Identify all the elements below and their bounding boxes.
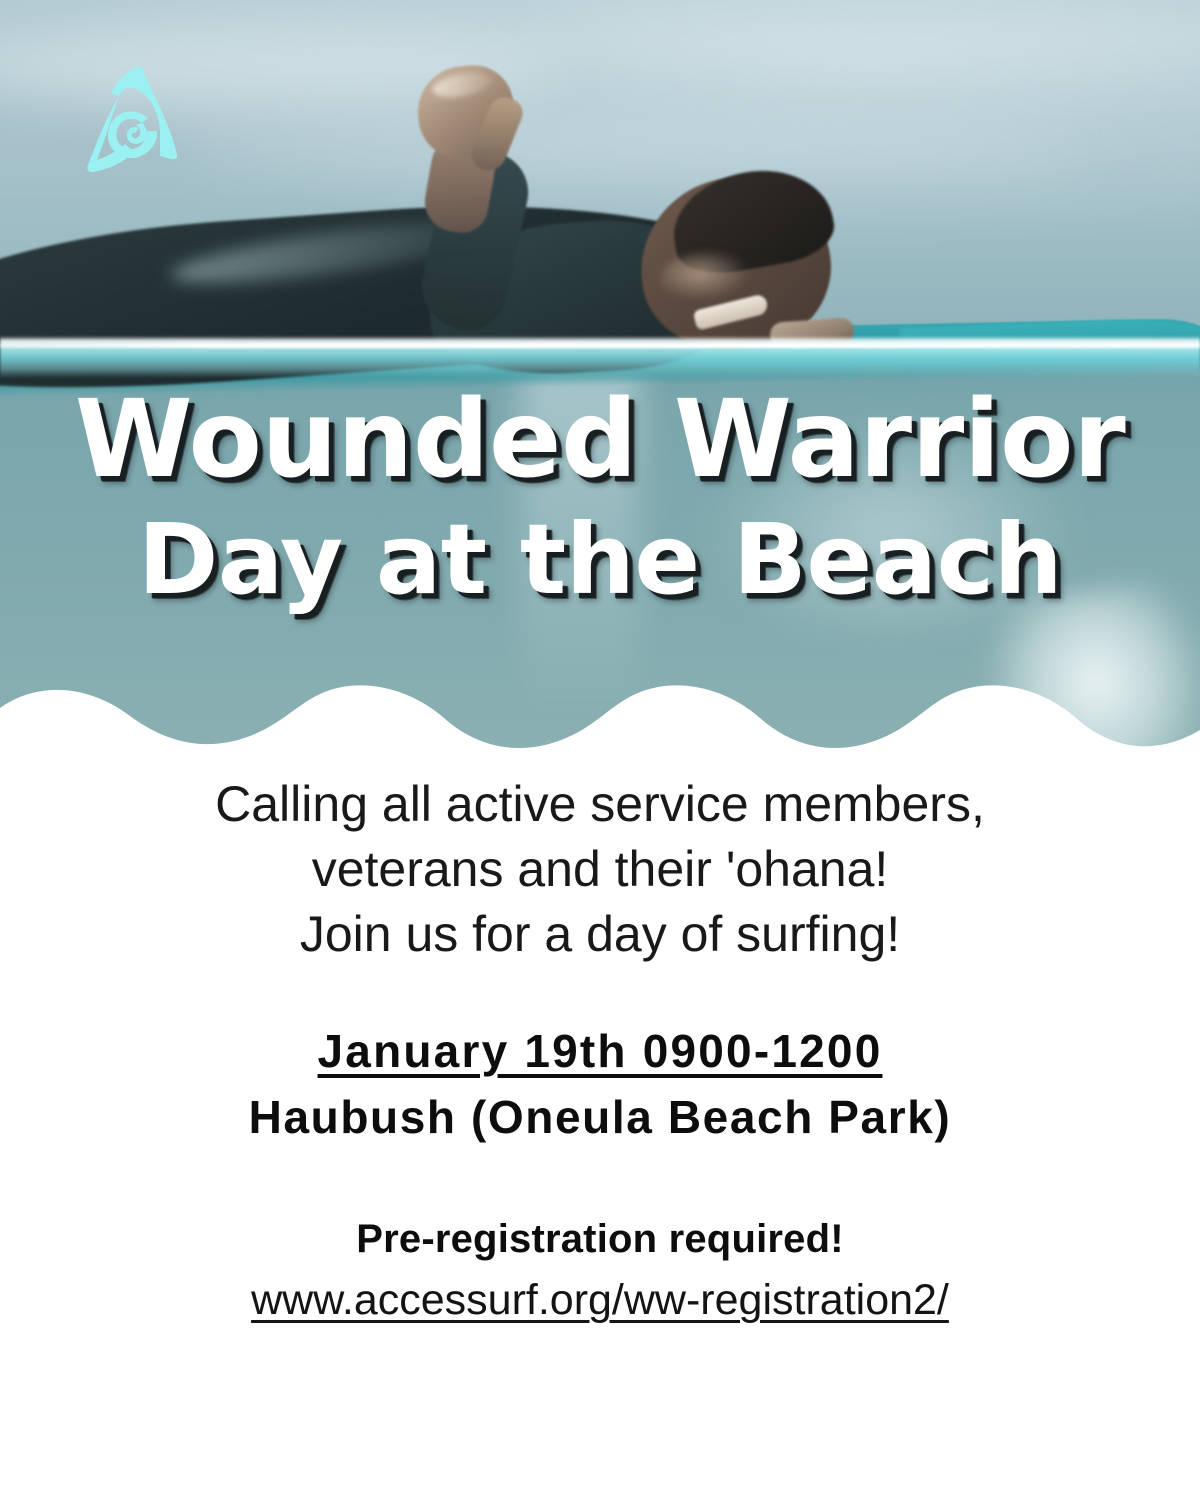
event-date-time: January 19th 0900-1200 <box>0 1023 1200 1079</box>
poster-content: Calling all active service members, vete… <box>0 772 1200 1325</box>
intro-line-3: Join us for a day of surfing! <box>80 902 1120 967</box>
registration-block: Pre-registration required! www.accessurf… <box>0 1217 1200 1325</box>
intro-line-2: veterans and their 'ohana! <box>80 837 1120 902</box>
wave-divider <box>0 660 1200 780</box>
event-venue: Haubush (Oneula Beach Park) <box>0 1089 1200 1145</box>
pre-registration-notice: Pre-registration required! <box>0 1217 1200 1262</box>
waterline-highlight <box>0 343 1200 348</box>
event-details: January 19th 0900-1200 Haubush (Oneula B… <box>0 1023 1200 1145</box>
intro-text: Calling all active service members, vete… <box>0 772 1200 967</box>
intro-line-1: Calling all active service members, <box>80 772 1120 837</box>
registration-url-link[interactable]: www.accessurf.org/ww-registration2/ <box>251 1276 949 1325</box>
cloud-band <box>180 120 1080 180</box>
accessurf-logo-icon[interactable] <box>78 62 186 180</box>
flyer-poster: Wounded Warrior Day at the Beach Calling… <box>0 0 1200 1500</box>
